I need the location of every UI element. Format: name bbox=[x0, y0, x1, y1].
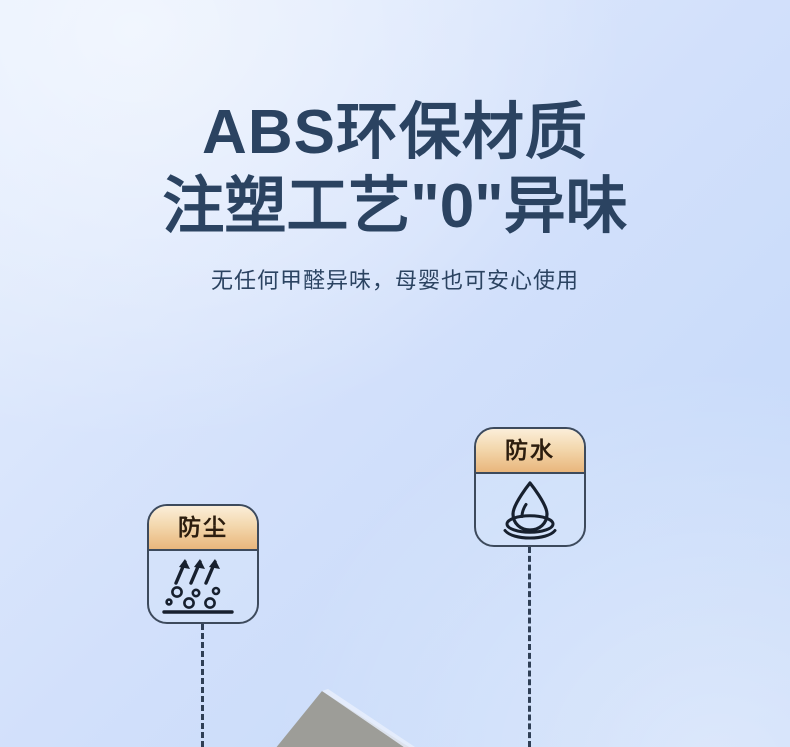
headline-subtitle: 无任何甲醛异味，母婴也可安心使用 bbox=[0, 266, 790, 296]
badge-dustproof-label: 防尘 bbox=[178, 516, 228, 539]
water-droplet-icon bbox=[493, 480, 567, 540]
badge-waterproof-label: 防水 bbox=[505, 439, 555, 462]
headline-block: ABS环保材质 注塑工艺"0"异味 无任何甲醛异味，母婴也可安心使用 bbox=[0, 96, 790, 296]
connector-line-dust bbox=[201, 624, 204, 747]
grey-peak-shape bbox=[262, 685, 522, 747]
headline-line-2: 注塑工艺"0"异味 bbox=[0, 170, 790, 244]
product-feature-poster: ABS环保材质 注塑工艺"0"异味 无任何甲醛异味，母婴也可安心使用 防尘 bbox=[0, 0, 790, 747]
badge-waterproof-body bbox=[476, 474, 584, 545]
badge-dustproof-body bbox=[149, 551, 257, 622]
badge-dustproof-header: 防尘 bbox=[149, 506, 257, 551]
dust-arrows-icon bbox=[160, 556, 246, 618]
connector-line-water bbox=[528, 547, 531, 747]
badge-waterproof-header: 防水 bbox=[476, 429, 584, 474]
headline-line-1: ABS环保材质 bbox=[0, 96, 790, 170]
badge-waterproof[interactable]: 防水 bbox=[474, 427, 586, 547]
badge-dustproof[interactable]: 防尘 bbox=[147, 504, 259, 624]
